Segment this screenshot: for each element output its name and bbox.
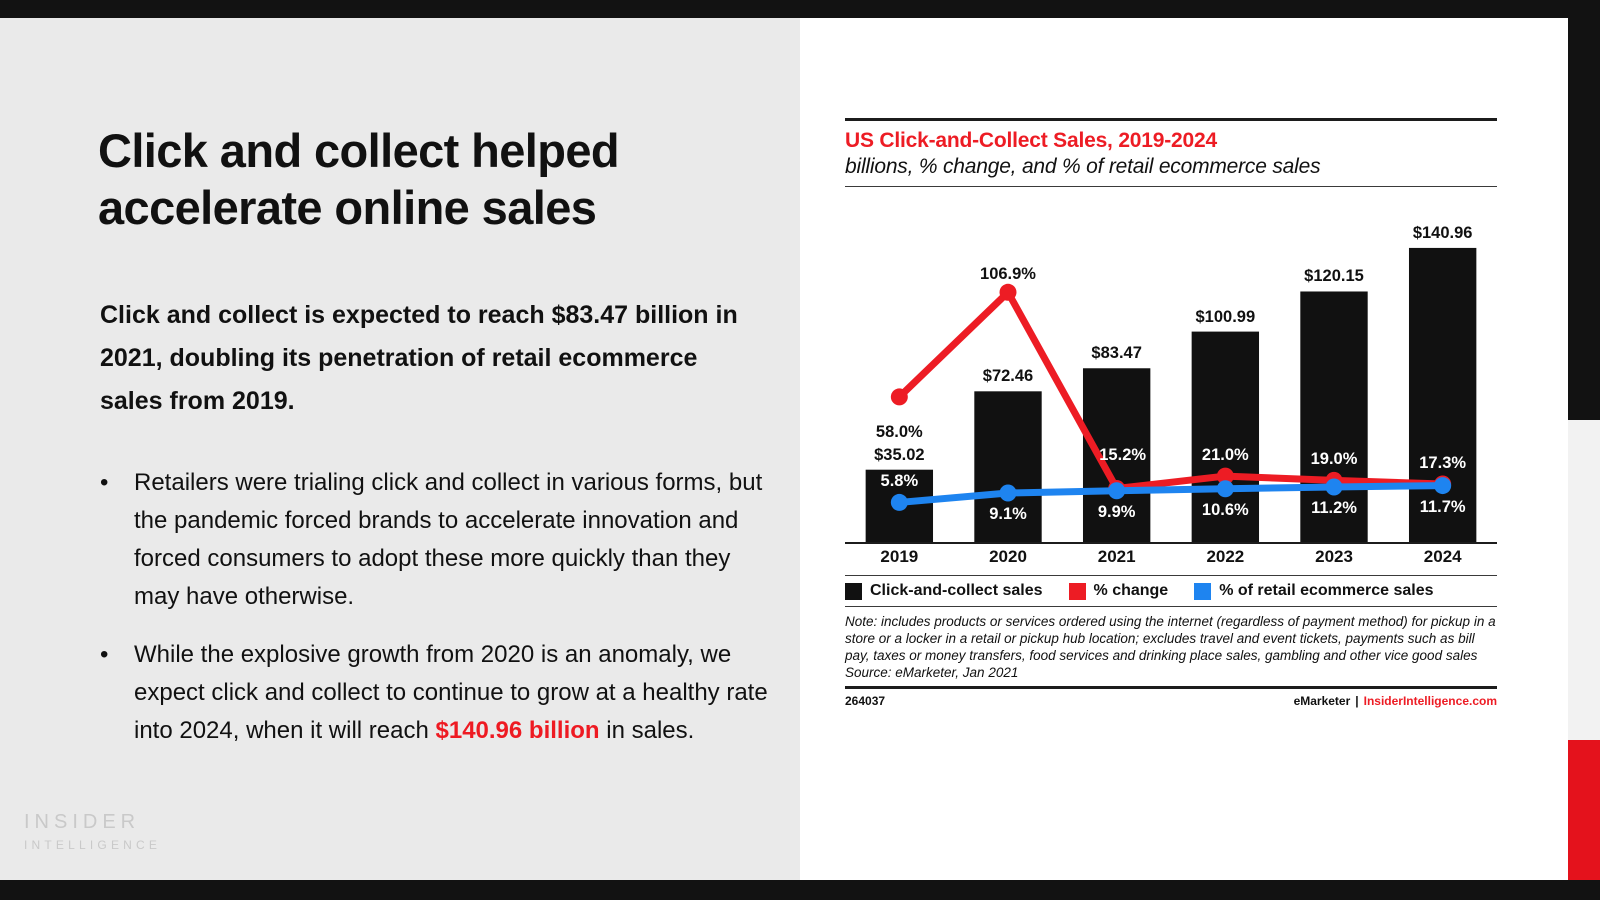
- legend-swatch-icon: [1194, 583, 1211, 600]
- chart-footer: 264037 eMarketer|InsiderIntelligence.com: [845, 689, 1497, 708]
- chart-svg: [845, 187, 1497, 543]
- slide-summary: Click and collect is expected to reach $…: [100, 294, 740, 423]
- right-edge-black-block: [1568, 18, 1600, 420]
- pct-ecommerce-label-2023: 11.2%: [1311, 499, 1357, 518]
- logo-line-insider: INSIDER: [24, 811, 161, 834]
- chart-legend: Click-and-collect sales% change% of reta…: [845, 582, 1497, 606]
- pct-ecommerce-point-2020: [1000, 485, 1017, 502]
- pct-ecommerce-point-2019: [891, 494, 908, 511]
- pct-ecommerce-point-2022: [1217, 480, 1234, 497]
- chart-subtitle: billions, % change, and % of retail ecom…: [845, 155, 1497, 179]
- x-tick-2023: 2023: [1280, 547, 1389, 567]
- bullet-marker-icon: •: [92, 464, 134, 616]
- footer-brand-emarketer: eMarketer: [1294, 694, 1351, 708]
- bullet-highlight: $140.96 billion: [436, 717, 600, 744]
- bar-label-2020: $72.46: [983, 367, 1033, 386]
- footer-separator: |: [1355, 694, 1358, 708]
- bar-label-2021: $83.47: [1091, 344, 1141, 363]
- legend-swatch-icon: [845, 583, 862, 600]
- right-edge-red-block: [1568, 740, 1600, 880]
- top-black-strip: [0, 0, 1600, 18]
- pct-ecommerce-label-2022: 10.6%: [1202, 501, 1249, 520]
- page-title: Click and collect helped accelerate onli…: [98, 122, 738, 236]
- chart-plot-area: $35.02$72.46$83.47$100.99$120.15$140.965…: [845, 187, 1497, 575]
- x-tick-2021: 2021: [1062, 547, 1171, 567]
- pct-ecommerce-point-2021: [1108, 482, 1125, 499]
- bar-label-2023: $120.15: [1304, 267, 1364, 286]
- x-tick-2024: 2024: [1388, 547, 1497, 567]
- insider-intelligence-logo: INSIDER INTELLIGENCE: [24, 811, 161, 852]
- slide-text-panel: Click and collect helped accelerate onli…: [0, 18, 800, 880]
- pct-ecommerce-point-2024: [1434, 477, 1451, 494]
- bullet-text-post: in sales.: [600, 717, 695, 744]
- x-axis-tick-labels: 201920202021202220232024: [845, 547, 1497, 567]
- chart-id: 264037: [845, 694, 885, 708]
- x-tick-2022: 2022: [1171, 547, 1280, 567]
- pct-change-label-2022: 21.0%: [1202, 446, 1249, 465]
- footer-branding: eMarketer|InsiderIntelligence.com: [1294, 694, 1497, 708]
- list-item: • While the explosive growth from 2020 i…: [92, 636, 772, 750]
- chart-card: US Click-and-Collect Sales, 2019-2024 bi…: [800, 18, 1568, 880]
- bullet-text: While the explosive growth from 2020 is …: [134, 636, 772, 750]
- list-item: • Retailers were trialing click and coll…: [92, 464, 772, 616]
- legend-item-change[interactable]: % change: [1069, 582, 1169, 600]
- pct-ecommerce-point-2023: [1326, 479, 1343, 496]
- pct-change-point-2020: [1000, 284, 1017, 301]
- x-tick-2019: 2019: [845, 547, 954, 567]
- bar-label-2019: $35.02: [874, 446, 924, 465]
- x-tick-2020: 2020: [954, 547, 1063, 567]
- logo-line-intelligence: INTELLIGENCE: [24, 838, 161, 852]
- legend-item-of-retail-ecommerce-sales[interactable]: % of retail ecommerce sales: [1194, 582, 1433, 600]
- rule-top-thick: [845, 118, 1497, 121]
- bullet-marker-icon: •: [92, 636, 134, 750]
- chart-title: US Click-and-Collect Sales, 2019-2024: [845, 129, 1497, 153]
- pct-ecommerce-label-2021: 9.9%: [1098, 503, 1136, 522]
- pct-change-label-2019: 58.0%: [876, 423, 923, 442]
- legend-label: Click-and-collect sales: [870, 582, 1043, 600]
- legend-swatch-icon: [1069, 583, 1086, 600]
- chart-note: Note: includes products or services orde…: [845, 607, 1497, 664]
- bottom-black-strip: [0, 880, 1600, 900]
- footer-brand-site[interactable]: InsiderIntelligence.com: [1364, 694, 1497, 708]
- bar-label-2022: $100.99: [1196, 308, 1256, 327]
- pct-ecommerce-label-2020: 9.1%: [989, 505, 1027, 524]
- bullet-text: Retailers were trialing click and collec…: [134, 464, 772, 616]
- pct-change-point-2019: [891, 388, 908, 405]
- rule-above-legend: [845, 575, 1497, 576]
- bullet-text-pre: Retailers were trialing click and collec…: [134, 469, 762, 610]
- bullet-list: • Retailers were trialing click and coll…: [92, 464, 772, 770]
- right-edge-gray-block: [1568, 420, 1600, 740]
- legend-item-click-and-collect-sales[interactable]: Click-and-collect sales: [845, 582, 1043, 600]
- x-axis-line: [845, 542, 1497, 544]
- pct-ecommerce-label-2019: 5.8%: [881, 472, 919, 491]
- pct-change-label-2024: 17.3%: [1419, 454, 1466, 473]
- pct-ecommerce-label-2024: 11.7%: [1420, 498, 1466, 517]
- pct-change-label-2020: 106.9%: [980, 265, 1036, 284]
- pct-change-label-2021: 15.2%: [1099, 446, 1146, 465]
- chart-source: Source: eMarketer, Jan 2021: [845, 665, 1497, 680]
- legend-label: % change: [1094, 582, 1169, 600]
- legend-label: % of retail ecommerce sales: [1219, 582, 1433, 600]
- pct-change-label-2023: 19.0%: [1311, 450, 1358, 469]
- bar-label-2024: $140.96: [1413, 224, 1473, 243]
